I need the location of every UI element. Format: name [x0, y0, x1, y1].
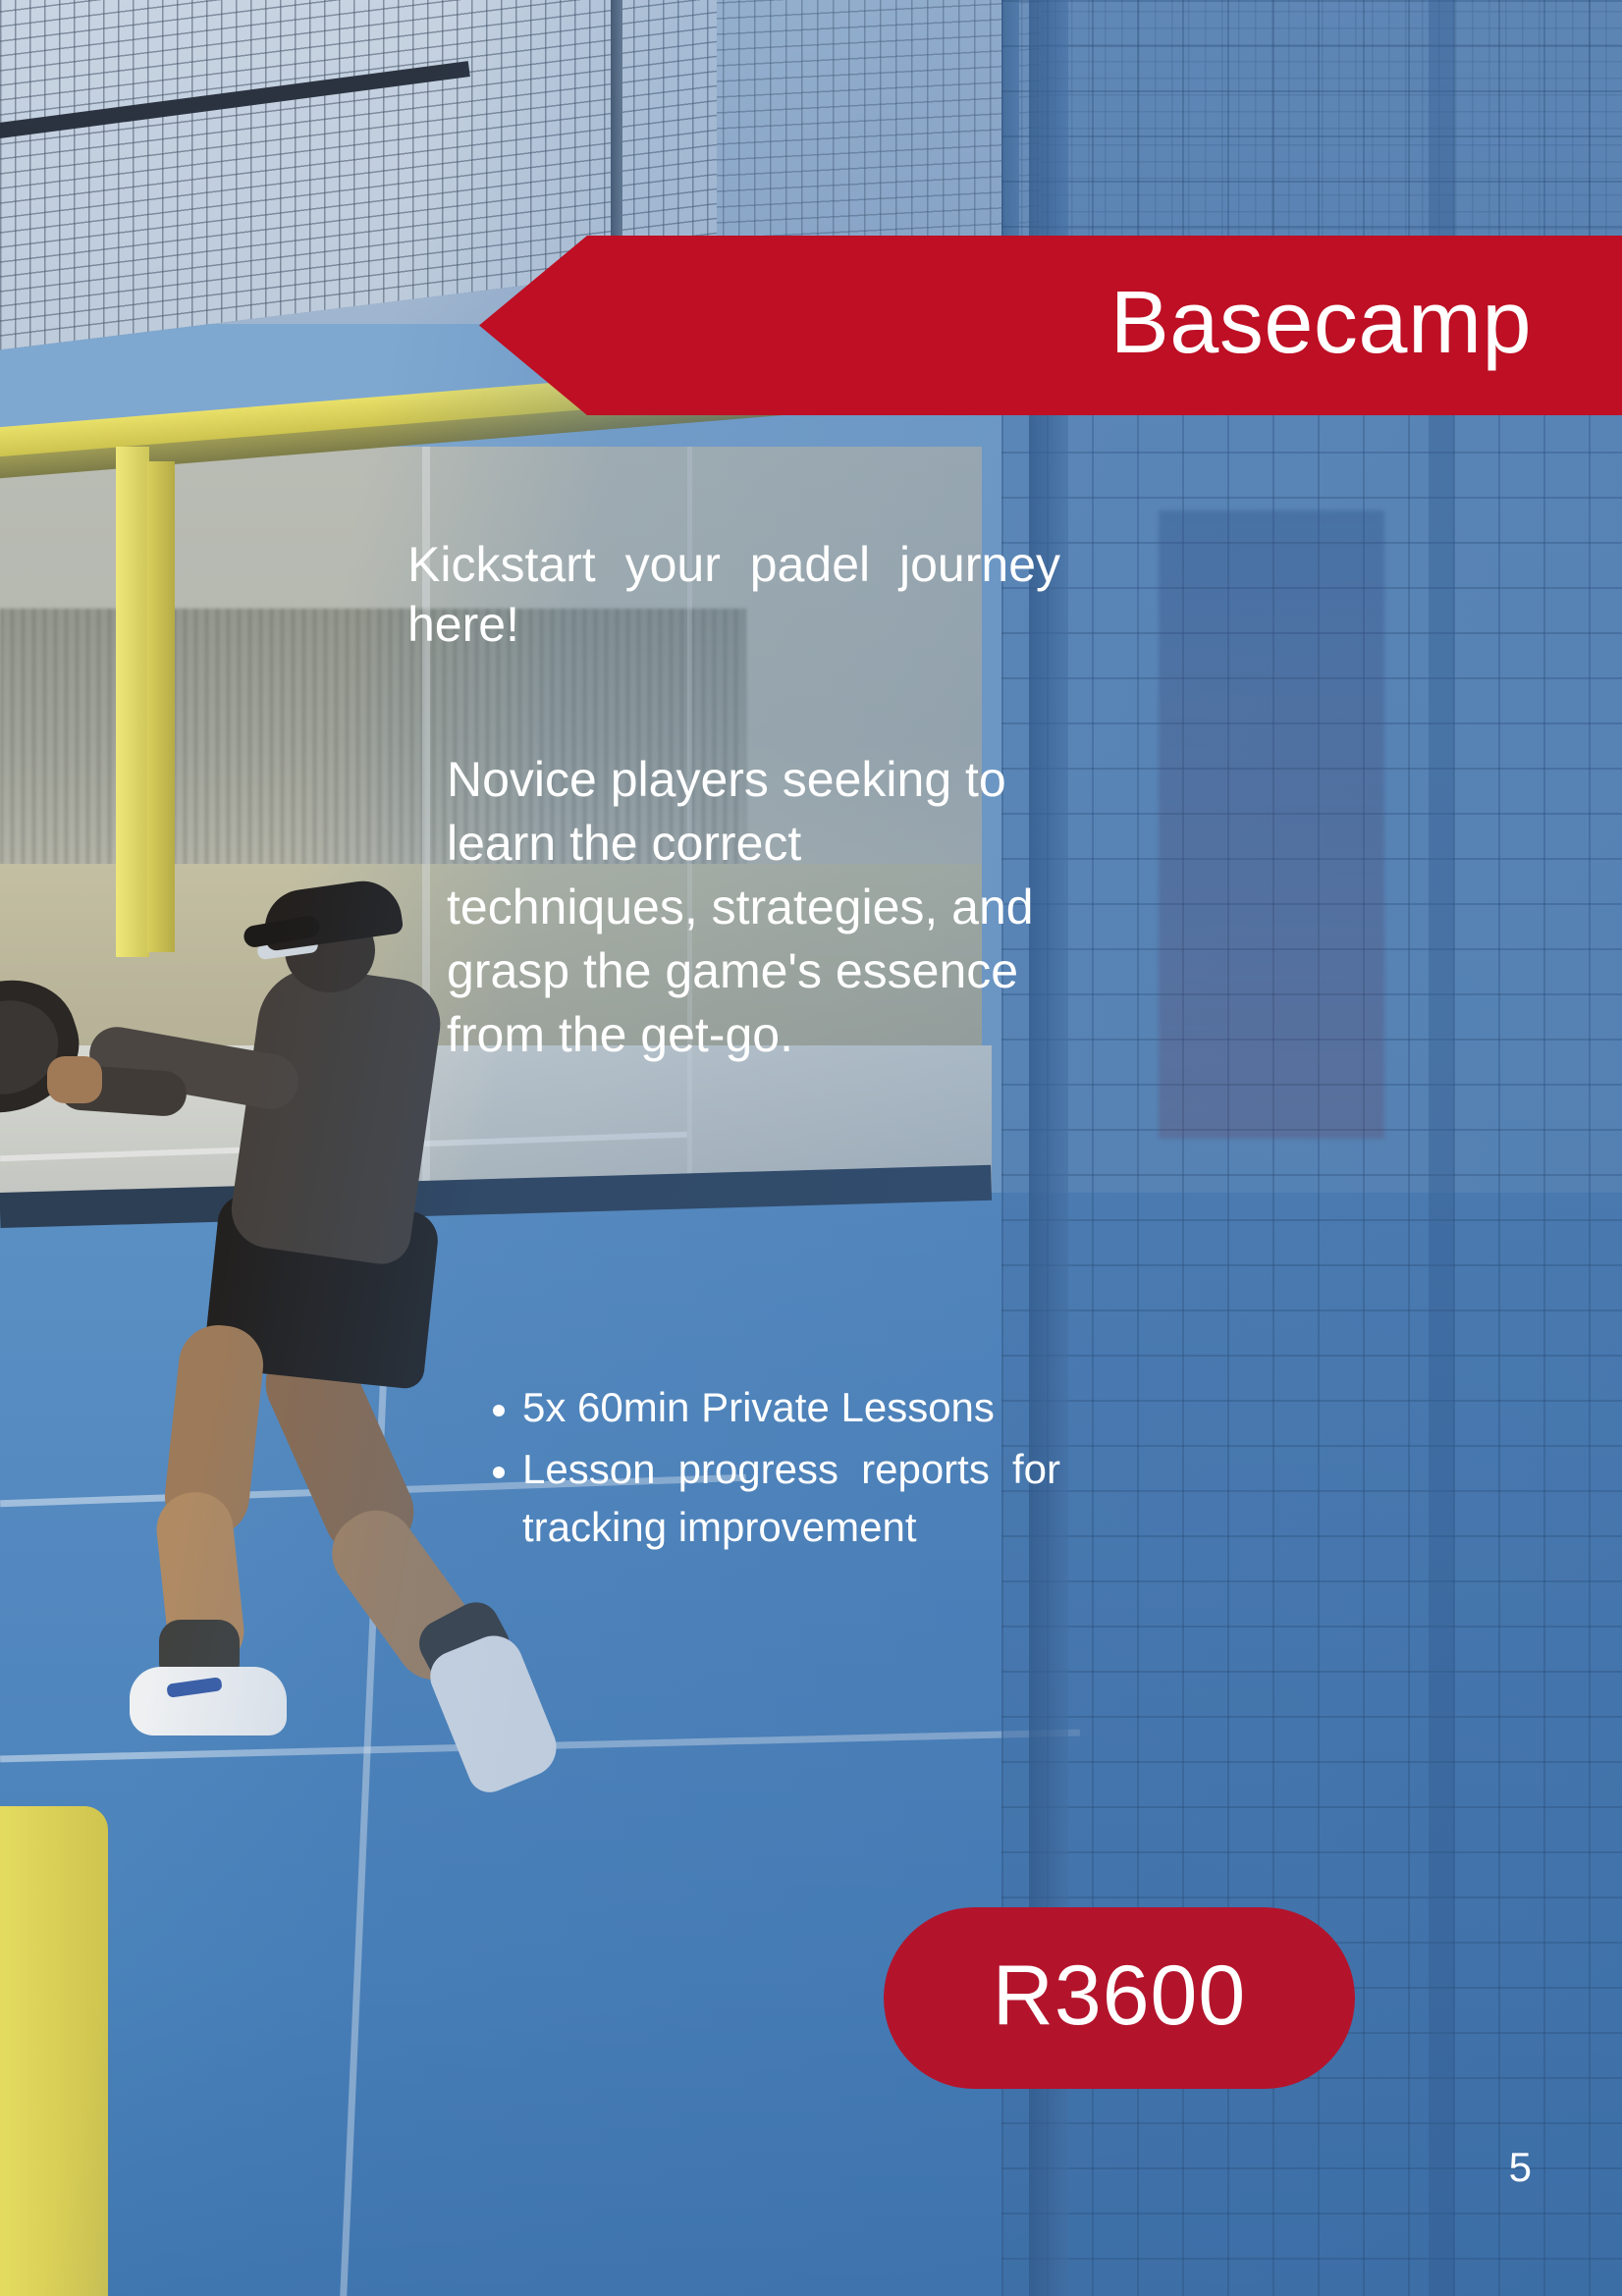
list-item: Lesson progress reports for tracking imp…: [522, 1441, 1060, 1557]
brochure-page: Basecamp Kickstart your padel journey he…: [0, 0, 1622, 2296]
feature-list: 5x 60min Private Lessons Lesson progress…: [481, 1379, 1060, 1560]
page-content: Basecamp Kickstart your padel journey he…: [0, 0, 1622, 2296]
price-amount: R3600: [993, 1953, 1246, 2044]
page-title: Basecamp: [1110, 279, 1622, 373]
list-item: 5x 60min Private Lessons: [522, 1379, 1060, 1437]
description-paragraph: Novice players seeking to learn the corr…: [447, 748, 1060, 1067]
page-number: 5: [1509, 2147, 1532, 2188]
title-banner: Basecamp: [479, 236, 1622, 415]
lead-paragraph: Kickstart your padel journey here!: [407, 535, 1060, 655]
price-badge: R3600: [884, 1907, 1355, 2089]
